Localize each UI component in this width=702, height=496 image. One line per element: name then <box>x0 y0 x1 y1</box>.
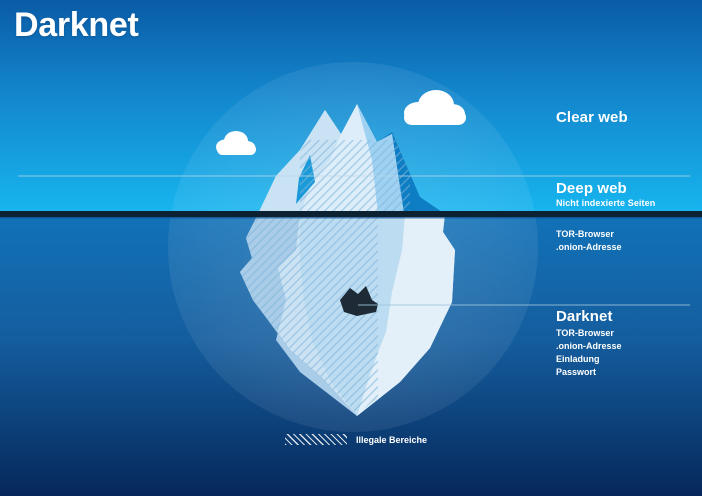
deep-web-item-list: TOR-Browser .onion-Adresse <box>556 228 622 254</box>
legend-hatch-swatch <box>285 434 347 445</box>
darknet-item: Passwort <box>556 366 622 379</box>
darknet-item: .onion-Adresse <box>556 340 622 353</box>
deep-web-item: .onion-Adresse <box>556 241 622 254</box>
legend: Illegale Bereiche <box>285 434 427 445</box>
darknet-item-list: TOR-Browser .onion-Adresse Einladung Pas… <box>556 327 622 379</box>
label-deep-web: Deep web <box>556 180 627 197</box>
waterline <box>0 211 702 217</box>
label-clear-web: Clear web <box>556 109 628 126</box>
page-title: Darknet <box>14 6 139 45</box>
darknet-item: Einladung <box>556 353 622 366</box>
legend-label: Illegale Bereiche <box>356 435 427 445</box>
infographic-canvas: Darknet Clear web Deep web Nicht indexie… <box>0 0 702 496</box>
waterline-highlight <box>0 217 702 219</box>
darknet-item: TOR-Browser <box>556 327 622 340</box>
deep-web-item: TOR-Browser <box>556 228 622 241</box>
label-darknet: Darknet <box>556 308 613 325</box>
label-deep-web-subtitle: Nicht indexierte Seiten <box>556 198 655 208</box>
